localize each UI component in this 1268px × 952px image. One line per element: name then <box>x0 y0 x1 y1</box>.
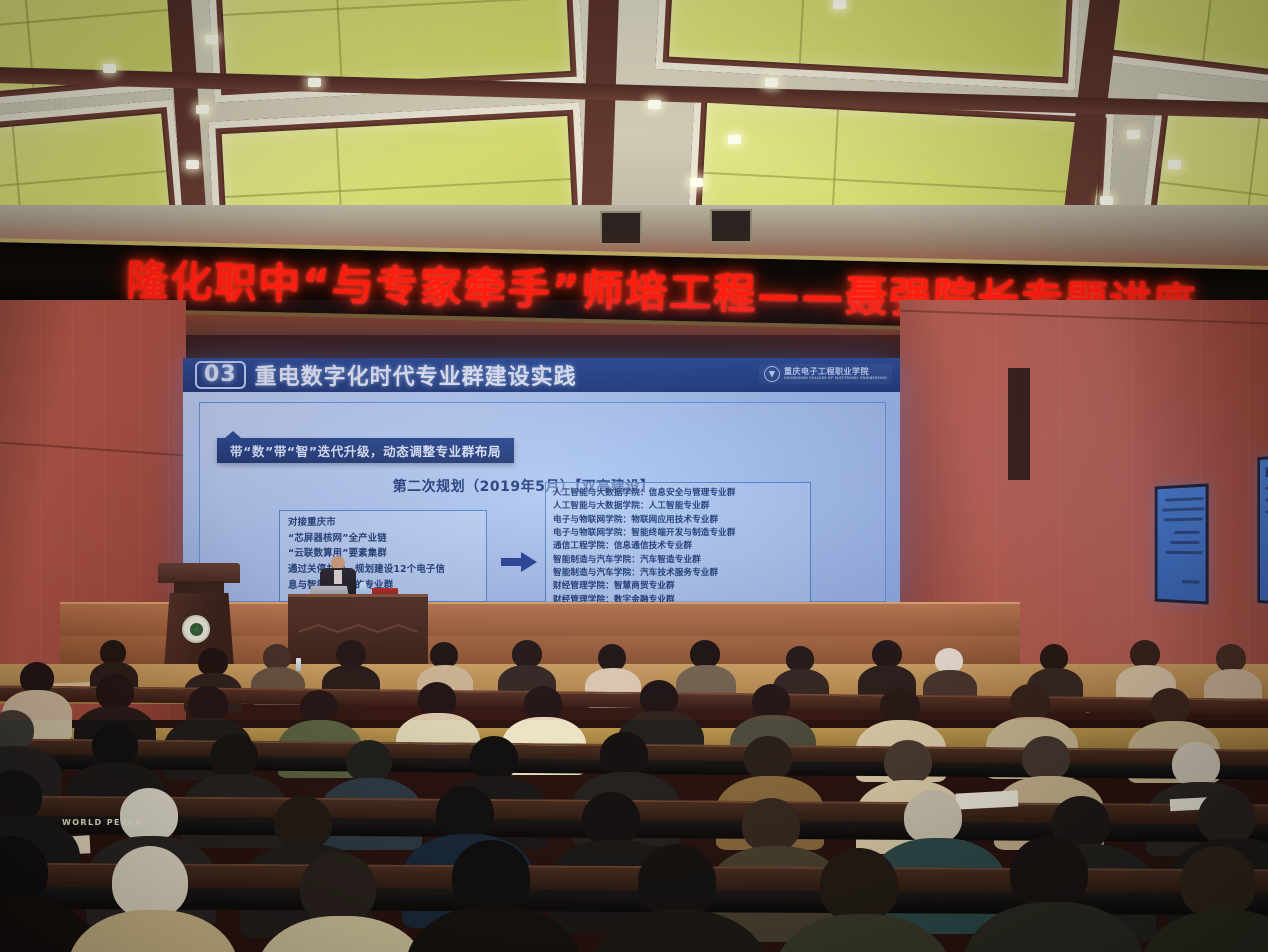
ceiling-coffer <box>0 0 196 109</box>
program-group-item: 人工智能与大数据学院：信息安全与管理专业群 <box>553 488 803 499</box>
ceiling-spotlight <box>690 178 703 187</box>
paper-sheet <box>956 790 1019 809</box>
ceiling-spotlight <box>728 135 741 144</box>
left-box-line: 对接重庆市 <box>288 517 478 530</box>
program-group-item: 电子与物联网学院：物联网应用技术专业群 <box>553 515 803 526</box>
slide-program-group-list: 人工智能与大数据学院：信息安全与管理专业群 人工智能与大数据学院：人工智能专业群… <box>545 482 811 610</box>
side-monitor-left <box>1155 483 1209 604</box>
table-trim <box>298 623 418 635</box>
right-arrow-icon <box>501 550 537 574</box>
program-group-item: 通信工程学院：信息通信技术专业群 <box>553 541 803 552</box>
wall-vent <box>710 209 752 243</box>
side-monitor-right <box>1257 453 1268 608</box>
slide-body: 带“数”带“智”迭代升级，动态调整专业群布局 第二次规划（2019年5月）【双高… <box>183 392 900 610</box>
auditorium-photo: 隆化职中“与专家牵手”师培工程——聂强院长专题讲座 03 重电数字化时代专业群建 <box>0 0 1268 952</box>
audience-area: 第六排 第一排 <box>0 640 1268 952</box>
diamond-emblem-icon <box>764 366 780 382</box>
left-box-line: “芯屏器核网”全产业链 <box>288 533 478 546</box>
left-box-line: 通过关停并转，规划建设12个电子信 <box>288 564 478 577</box>
projection-screen: 03 重电数字化时代专业群建设实践 重庆电子工程职业学院 CHONGQING C… <box>183 358 900 610</box>
school-logo: 重庆电子工程职业学院 CHONGQING COLLEGE OF ELECTRON… <box>759 364 892 384</box>
slide-section-number: 03 <box>195 361 246 389</box>
side-door[interactable] <box>1008 368 1030 480</box>
ceiling-spotlight <box>1127 130 1140 139</box>
ceiling-spotlight <box>308 78 321 87</box>
ceiling-spotlight <box>103 64 116 73</box>
jacket-text: WORLD PEACE <box>62 818 143 827</box>
slide-title: 重电数字化时代专业群建设实践 <box>255 359 577 391</box>
ceiling-coffer <box>1098 0 1268 97</box>
ceiling-spotlight <box>1168 160 1181 169</box>
slide-ribbon: 带“数”带“智”迭代升级，动态调整专业群布局 <box>217 438 514 463</box>
school-logo-text: 重庆电子工程职业学院 CHONGQING COLLEGE OF ELECTRON… <box>784 368 887 380</box>
school-crest-icon <box>182 615 210 643</box>
ceiling-coffer <box>655 0 1084 91</box>
ceiling-spotlight <box>1100 196 1113 205</box>
program-group-item: 智能制造与汽车学院：汽车技术服务专业群 <box>553 568 803 579</box>
ceiling-spotlight <box>833 0 846 9</box>
ceiling-spotlight <box>765 78 778 87</box>
program-group-item: 智能制造与汽车学院：汽车智造专业群 <box>553 555 803 566</box>
left-box-line: “云联数算用”要素集群 <box>288 548 478 561</box>
water-bottle <box>296 658 301 671</box>
ceiling-spotlight <box>186 160 199 169</box>
ceiling-spotlight <box>196 105 209 114</box>
program-group-item: 财经管理学院：智慧商贸专业群 <box>553 581 803 592</box>
slide-header: 03 重电数字化时代专业群建设实践 重庆电子工程职业学院 CHONGQING C… <box>183 358 900 392</box>
ceiling-spotlight <box>205 35 218 44</box>
program-group-item: 人工智能与大数据学院：人工智能专业群 <box>553 501 803 512</box>
wall-vent <box>600 211 642 245</box>
ceiling-spotlight <box>648 100 661 109</box>
program-group-item: 电子与物联网学院：智能终端开发与制造专业群 <box>553 528 803 539</box>
